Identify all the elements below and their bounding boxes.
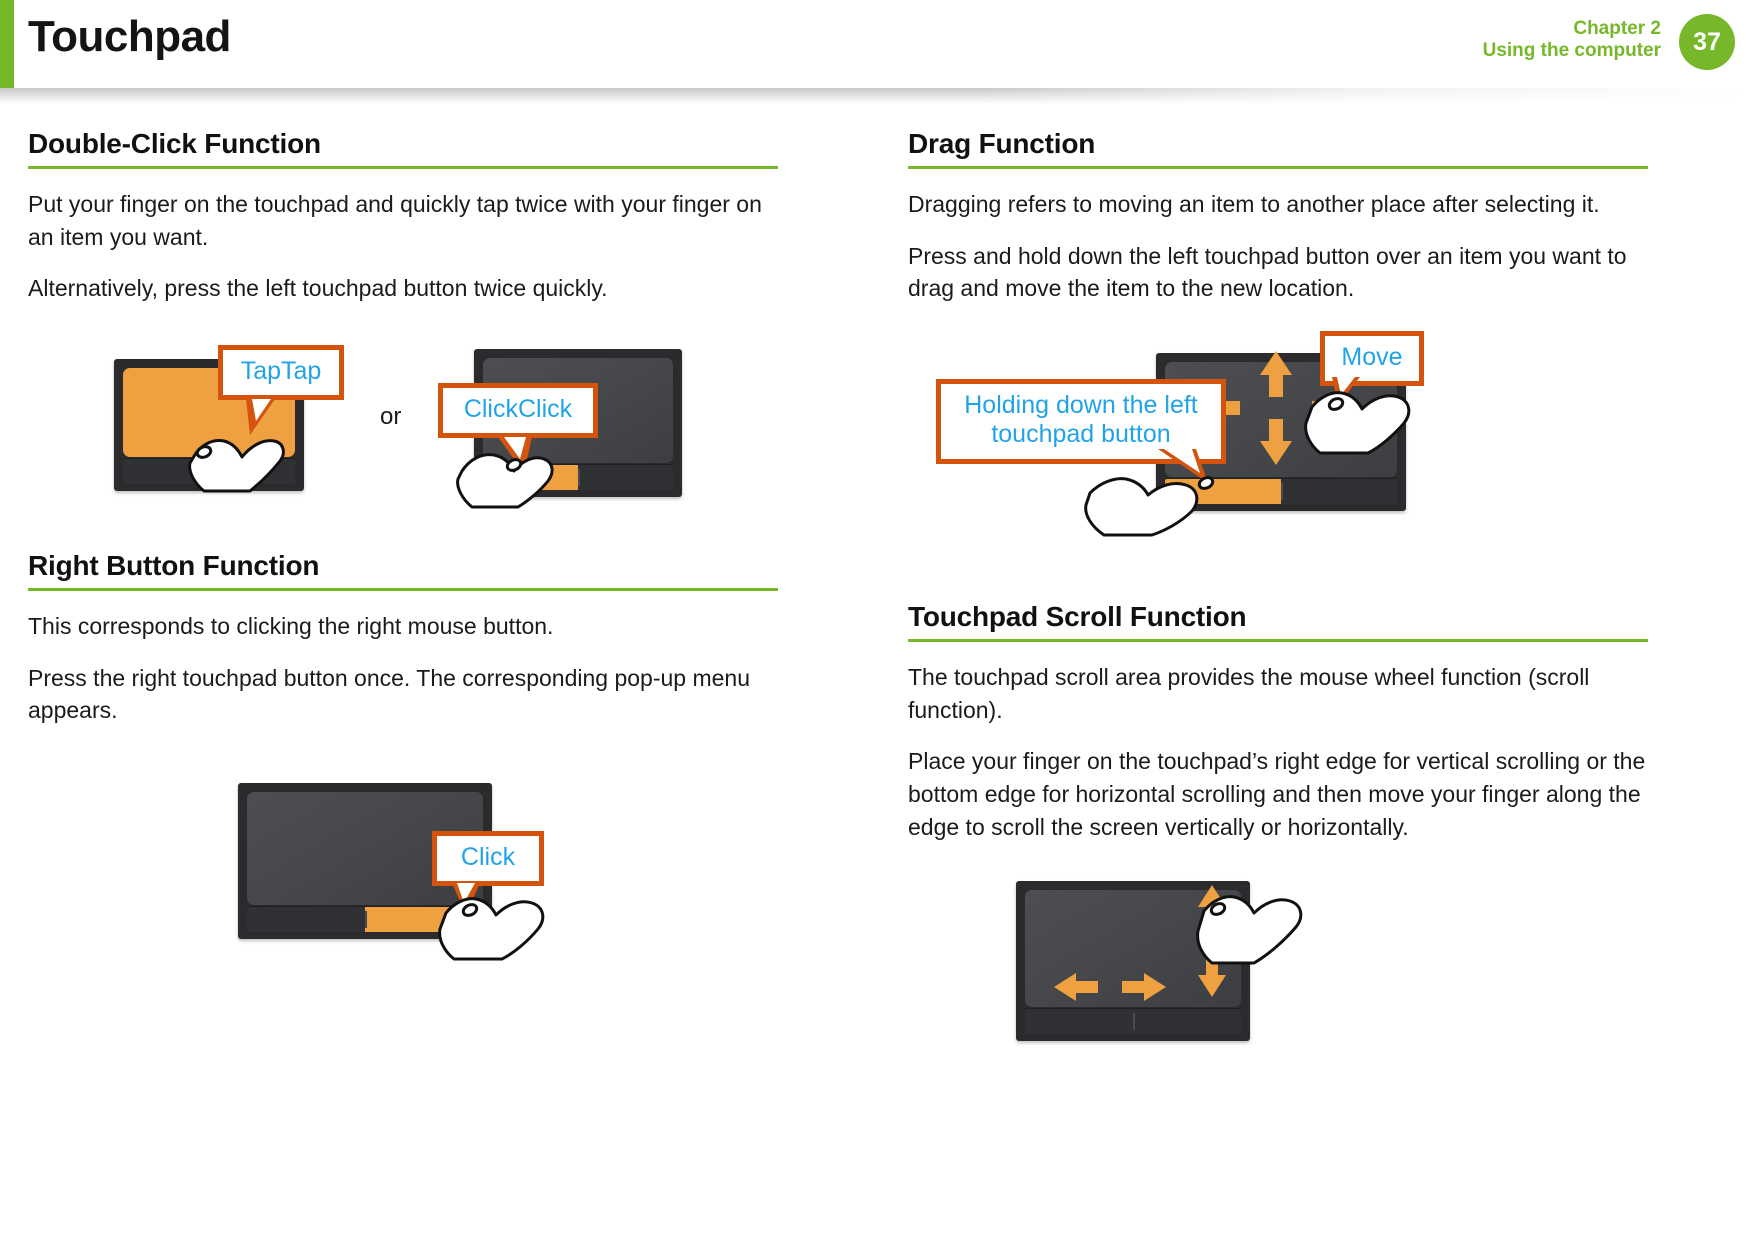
- section-rule: [28, 588, 778, 591]
- hand-icon-click: [458, 455, 552, 507]
- chapter-number: Chapter 2: [1483, 18, 1661, 40]
- left-column: Double-Click Function Put your finger on…: [28, 128, 778, 994]
- right-button-paragraph-2: Press the right touchpad button once. Th…: [28, 662, 778, 727]
- scroll-paragraph-1: The touchpad scroll area provides the mo…: [908, 661, 1648, 726]
- section-rule: [908, 639, 1648, 642]
- chapter-subtitle: Using the computer: [1483, 40, 1661, 62]
- section-heading-double-click: Double-Click Function: [28, 128, 778, 166]
- header-accent-bar: [0, 0, 14, 88]
- drag-paragraph-1: Dragging refers to moving an item to ano…: [908, 188, 1648, 221]
- section-rule: [28, 166, 778, 169]
- fingertip-drag-hold: [1198, 475, 1215, 490]
- drag-figure: Move Holding down the left touchpad butt…: [908, 331, 1648, 561]
- double-click-paragraph-2: Alternatively, press the left touchpad b…: [28, 272, 778, 305]
- double-click-figure: TapTap or ClickClick: [28, 331, 778, 516]
- section-heading-scroll: Touchpad Scroll Function: [908, 601, 1648, 639]
- drag-annotations: [908, 331, 1648, 561]
- double-click-paragraph-1: Put your finger on the touchpad and quic…: [28, 188, 778, 253]
- right-column: Drag Function Dragging refers to moving …: [908, 128, 1648, 1075]
- scroll-hand: [908, 875, 1648, 1075]
- page-number-badge: 37: [1679, 14, 1735, 70]
- section-rule: [908, 166, 1648, 169]
- right-button-annotations: [28, 769, 788, 994]
- scroll-paragraph-2: Place your finger on the touchpad’s righ…: [908, 745, 1648, 843]
- section-heading-drag: Drag Function: [908, 128, 1648, 166]
- manual-page: Touchpad Chapter 2 Using the computer 37…: [0, 0, 1749, 1241]
- header-shadow: [0, 88, 1749, 104]
- page-title: Touchpad: [28, 12, 231, 62]
- hand-icon-right-click: [440, 899, 543, 959]
- right-button-figure: Click: [28, 769, 778, 994]
- hand-icon-drag-hold: [1086, 479, 1197, 535]
- section-heading-right-button: Right Button Function: [28, 550, 778, 588]
- scroll-figure: [908, 875, 1648, 1075]
- page-header: Touchpad Chapter 2 Using the computer 37: [0, 0, 1749, 92]
- double-click-right-annotations: [28, 331, 788, 516]
- right-button-paragraph-1: This corresponds to clicking the right m…: [28, 610, 778, 643]
- chapter-info: Chapter 2 Using the computer: [1483, 18, 1661, 63]
- hand-icon-drag-move: [1306, 393, 1409, 453]
- drag-paragraph-2: Press and hold down the left touchpad bu…: [908, 240, 1648, 305]
